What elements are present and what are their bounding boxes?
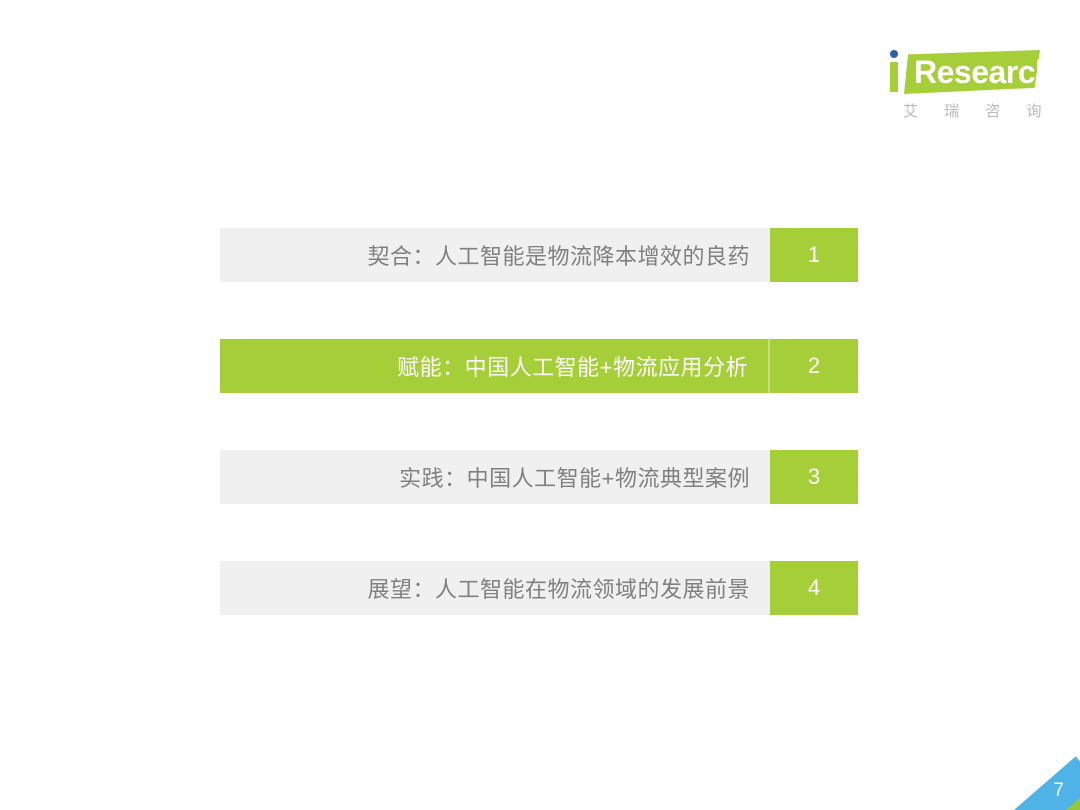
agenda-row-4-number: 4 [770,561,858,615]
agenda-row-3-label: 实践：中国人工智能+物流典型案例 [220,450,770,504]
agenda-row-4-label: 展望：人工智能在物流领域的发展前景 [220,561,770,615]
agenda-row-2-label: 赋能：中国人工智能+物流应用分析 [220,339,768,393]
agenda-list: 契合：人工智能是物流降本增效的良药 1 赋能：中国人工智能+物流应用分析 2 实… [220,228,858,615]
logo-wordmark: Research [914,52,1040,92]
corner-decoration: 7 [950,680,1080,810]
agenda-row-4[interactable]: 展望：人工智能在物流领域的发展前景 4 [220,561,858,615]
logo-mark: Research [884,48,1040,100]
logo-subtitle: 艾 瑞 咨 询 [892,100,1040,121]
agenda-row-2-number: 2 [768,339,858,393]
agenda-row-1[interactable]: 契合：人工智能是物流降本增效的良药 1 [220,228,858,282]
iresearch-logo: Research 艾 瑞 咨 询 [884,48,1040,130]
agenda-row-2[interactable]: 赋能：中国人工智能+物流应用分析 2 [220,339,858,393]
page-number: 7 [1053,780,1064,802]
agenda-row-1-label: 契合：人工智能是物流降本增效的良药 [220,228,770,282]
logo-i-stem-icon [890,62,898,92]
agenda-row-3-number: 3 [770,450,858,504]
agenda-row-1-number: 1 [770,228,858,282]
logo-i-dot-icon [890,50,898,58]
agenda-row-3[interactable]: 实践：中国人工智能+物流典型案例 3 [220,450,858,504]
